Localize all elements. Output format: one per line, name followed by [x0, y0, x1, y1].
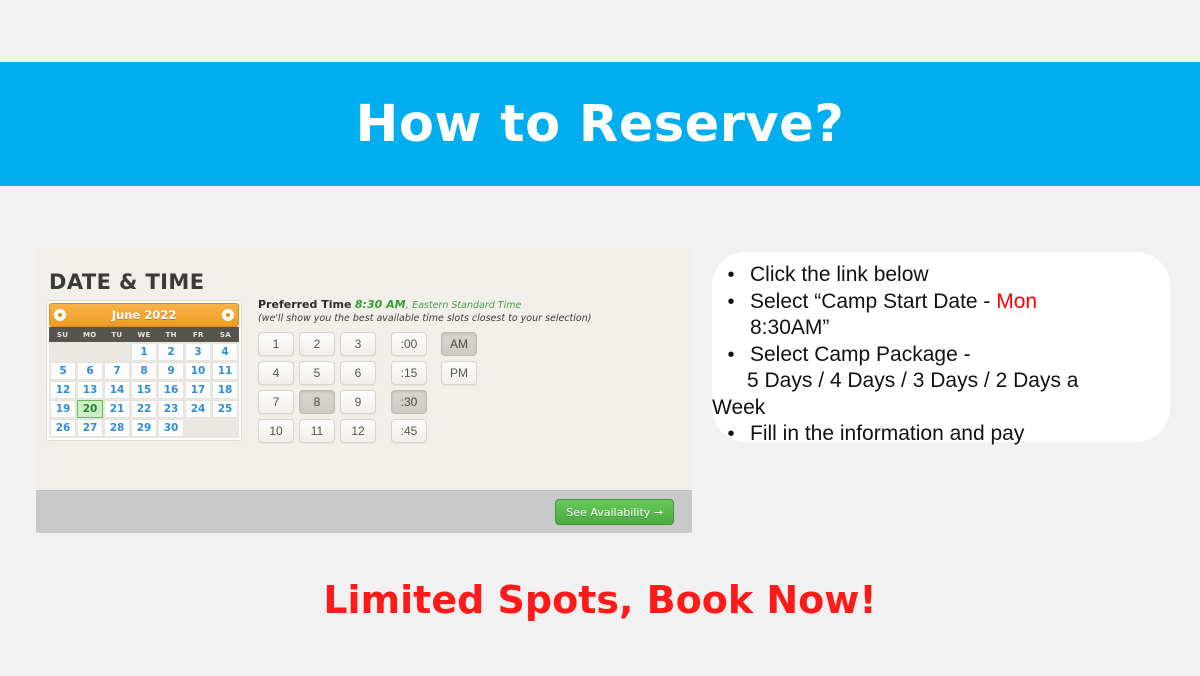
calendar-empty-cell	[104, 343, 130, 361]
calendar-day[interactable]: 2	[158, 343, 184, 361]
calendar: June 2022 SU MO TU WE TH FR SA 123456789…	[46, 300, 242, 441]
calendar-day[interactable]: 12	[50, 381, 76, 399]
calendar-header: June 2022	[49, 303, 239, 327]
instructions-list: • Click the link below • Select “Camp St…	[712, 262, 1182, 448]
calendar-day[interactable]: 27	[77, 419, 103, 437]
page-header-banner: How to Reserve?	[0, 62, 1200, 186]
list-item-label: Select Camp Package -	[750, 342, 1182, 369]
calendar-month-title: June 2022	[66, 308, 222, 322]
weekday-label: TH	[158, 331, 185, 339]
meridiem-buttons: AMPM	[441, 332, 477, 385]
minute-button-00[interactable]: :00	[391, 332, 427, 356]
calendar-day[interactable]: 18	[212, 381, 238, 399]
preferred-time-value: 8:30 AM	[355, 298, 406, 311]
calendar-day[interactable]: 9	[158, 362, 184, 380]
minute-button-15[interactable]: :15	[391, 361, 427, 385]
hour-button-1[interactable]: 1	[258, 332, 294, 356]
list-item: • Fill in the information and pay	[712, 421, 1182, 448]
calendar-day[interactable]: 17	[185, 381, 211, 399]
calendar-day[interactable]: 4	[212, 343, 238, 361]
calendar-day[interactable]: 6	[77, 362, 103, 380]
calendar-day[interactable]: 8	[131, 362, 157, 380]
calendar-day[interactable]: 7	[104, 362, 130, 380]
date-time-heading: DATE & TIME	[49, 270, 204, 294]
see-availability-button[interactable]: See Availability →	[555, 499, 674, 525]
weekday-label: TU	[103, 331, 130, 339]
booking-widget: DATE & TIME June 2022 SU MO TU WE TH FR …	[36, 248, 692, 533]
list-item-label: Click the link below	[750, 262, 1182, 289]
weekday-label: SA	[212, 331, 239, 339]
calendar-empty-cell	[77, 343, 103, 361]
weekday-label: SU	[49, 331, 76, 339]
minute-button-45[interactable]: :45	[391, 419, 427, 443]
list-item-label: Select “Camp Start Date - Mon 8:30AM”	[750, 289, 1182, 342]
calendar-empty-cell	[212, 419, 238, 437]
calendar-day[interactable]: 5	[50, 362, 76, 380]
weekday-label: FR	[185, 331, 212, 339]
minute-button-30[interactable]: :30	[391, 390, 427, 414]
list-item-highlight: Mon	[996, 290, 1037, 313]
preferred-time-separator: ,	[406, 300, 409, 311]
list-item-continuation: 5 Days / 4 Days / 3 Days / 2 Days a	[712, 368, 1182, 395]
bullet-icon: •	[712, 342, 750, 369]
prev-month-icon[interactable]	[54, 309, 66, 321]
calendar-day[interactable]: 15	[131, 381, 157, 399]
calendar-empty-cell	[50, 343, 76, 361]
calendar-day[interactable]: 11	[212, 362, 238, 380]
list-item-text: Select “Camp Start Date -	[750, 290, 996, 313]
meridiem-button-AM[interactable]: AM	[441, 332, 477, 356]
hour-button-8[interactable]: 8	[299, 390, 335, 414]
booking-widget-body: DATE & TIME June 2022 SU MO TU WE TH FR …	[36, 248, 692, 488]
calendar-day[interactable]: 14	[104, 381, 130, 399]
hour-button-9[interactable]: 9	[340, 390, 376, 414]
calendar-day[interactable]: 25	[212, 400, 238, 418]
next-month-icon[interactable]	[222, 309, 234, 321]
bullet-icon: •	[712, 421, 750, 448]
hour-button-2[interactable]: 2	[299, 332, 335, 356]
hour-button-10[interactable]: 10	[258, 419, 294, 443]
calendar-day[interactable]: 24	[185, 400, 211, 418]
timezone-label: Eastern Standard Time	[412, 300, 521, 311]
calendar-day[interactable]: 3	[185, 343, 211, 361]
calendar-day[interactable]: 13	[77, 381, 103, 399]
page-title: How to Reserve?	[356, 99, 845, 150]
calendar-day[interactable]: 19	[50, 400, 76, 418]
calendar-day-grid: 1234567891011121314151617181920212223242…	[49, 342, 239, 438]
calendar-day[interactable]: 16	[158, 381, 184, 399]
bullet-icon: •	[712, 262, 750, 289]
list-item: • Select “Camp Start Date - Mon 8:30AM”	[712, 289, 1182, 342]
hour-button-7[interactable]: 7	[258, 390, 294, 414]
calendar-day[interactable]: 26	[50, 419, 76, 437]
list-item: • Select Camp Package -	[712, 342, 1182, 369]
list-item-text: Select Camp Package -	[750, 343, 971, 366]
weekday-label: WE	[130, 331, 157, 339]
minute-buttons: :00:15:30:45	[391, 332, 427, 443]
calendar-day[interactable]: 29	[131, 419, 157, 437]
time-picker: Preferred Time 8:30 AM, Eastern Standard…	[258, 298, 678, 443]
list-item: • Click the link below	[712, 262, 1182, 289]
calendar-day[interactable]: 1	[131, 343, 157, 361]
hour-button-4[interactable]: 4	[258, 361, 294, 385]
hour-button-12[interactable]: 12	[340, 419, 376, 443]
calendar-empty-cell	[185, 419, 211, 437]
calendar-weekday-row: SU MO TU WE TH FR SA	[49, 327, 239, 342]
calendar-day[interactable]: 30	[158, 419, 184, 437]
hour-button-3[interactable]: 3	[340, 332, 376, 356]
calendar-day[interactable]: 22	[131, 400, 157, 418]
preferred-time-label: Preferred Time	[258, 298, 351, 311]
list-item-label: Fill in the information and pay	[750, 421, 1182, 448]
time-button-groups: 123456789101112 :00:15:30:45 AMPM	[258, 332, 678, 443]
calendar-day[interactable]: 28	[104, 419, 130, 437]
weekday-label: MO	[76, 331, 103, 339]
hour-button-6[interactable]: 6	[340, 361, 376, 385]
meridiem-button-PM[interactable]: PM	[441, 361, 477, 385]
calendar-day[interactable]: 10	[185, 362, 211, 380]
list-item-continuation: Week	[712, 395, 1182, 422]
hour-button-11[interactable]: 11	[299, 419, 335, 443]
bullet-icon: •	[712, 289, 750, 316]
calendar-day[interactable]: 23	[158, 400, 184, 418]
calendar-day-selected[interactable]: 20	[77, 400, 103, 418]
hour-buttons: 123456789101112	[258, 332, 376, 443]
calendar-day[interactable]: 21	[104, 400, 130, 418]
list-item-continuation: 8:30AM”	[750, 315, 1182, 342]
tagline: Limited Spots, Book Now!	[0, 578, 1200, 622]
preferred-time-note: (we'll show you the best available time …	[258, 313, 678, 324]
preferred-time-line: Preferred Time 8:30 AM, Eastern Standard…	[258, 298, 678, 311]
widget-footer-bar: See Availability →	[36, 490, 692, 533]
hour-button-5[interactable]: 5	[299, 361, 335, 385]
